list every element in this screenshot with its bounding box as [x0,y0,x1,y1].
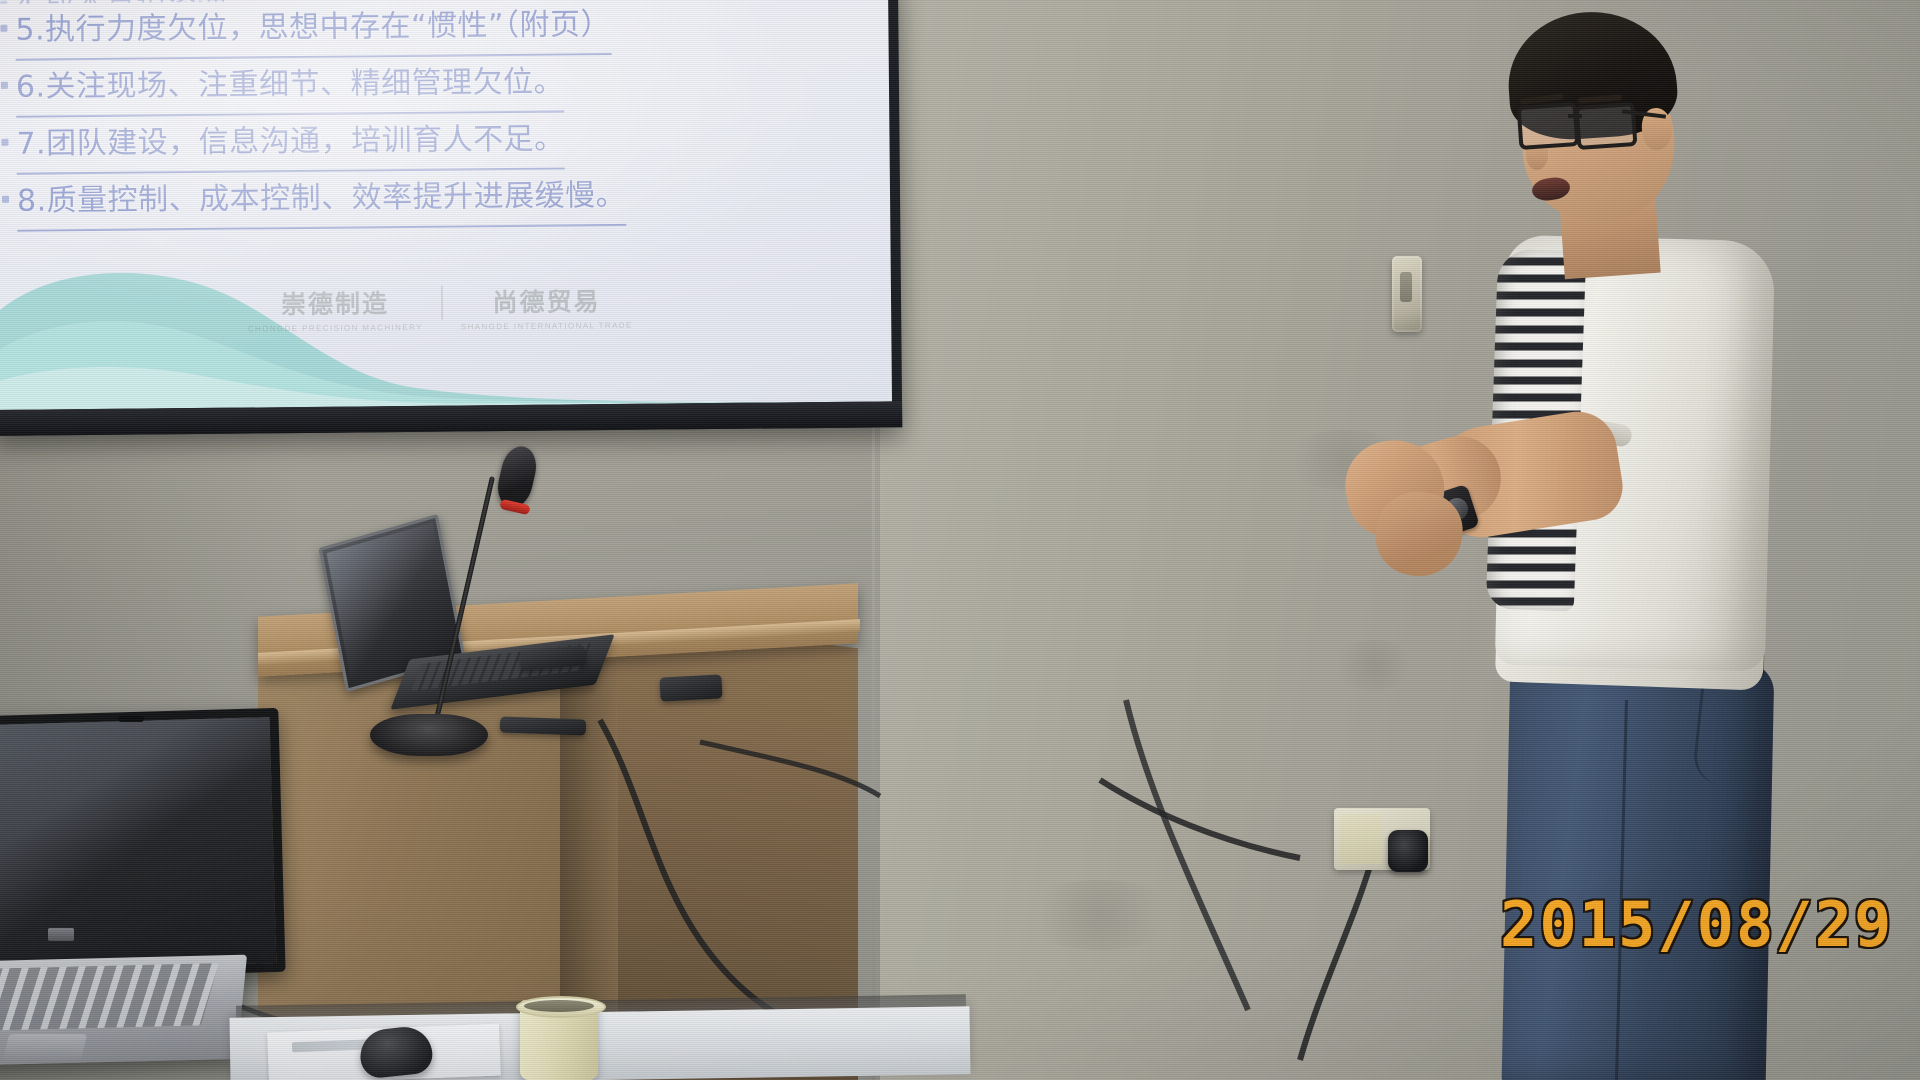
photo-vignette [0,0,1920,1080]
presentation-photo: 4.成本意识淡薄。 5.执行力度欠位，思想中存在“惯性”（附页） 6.关注现场、… [0,0,1920,1080]
